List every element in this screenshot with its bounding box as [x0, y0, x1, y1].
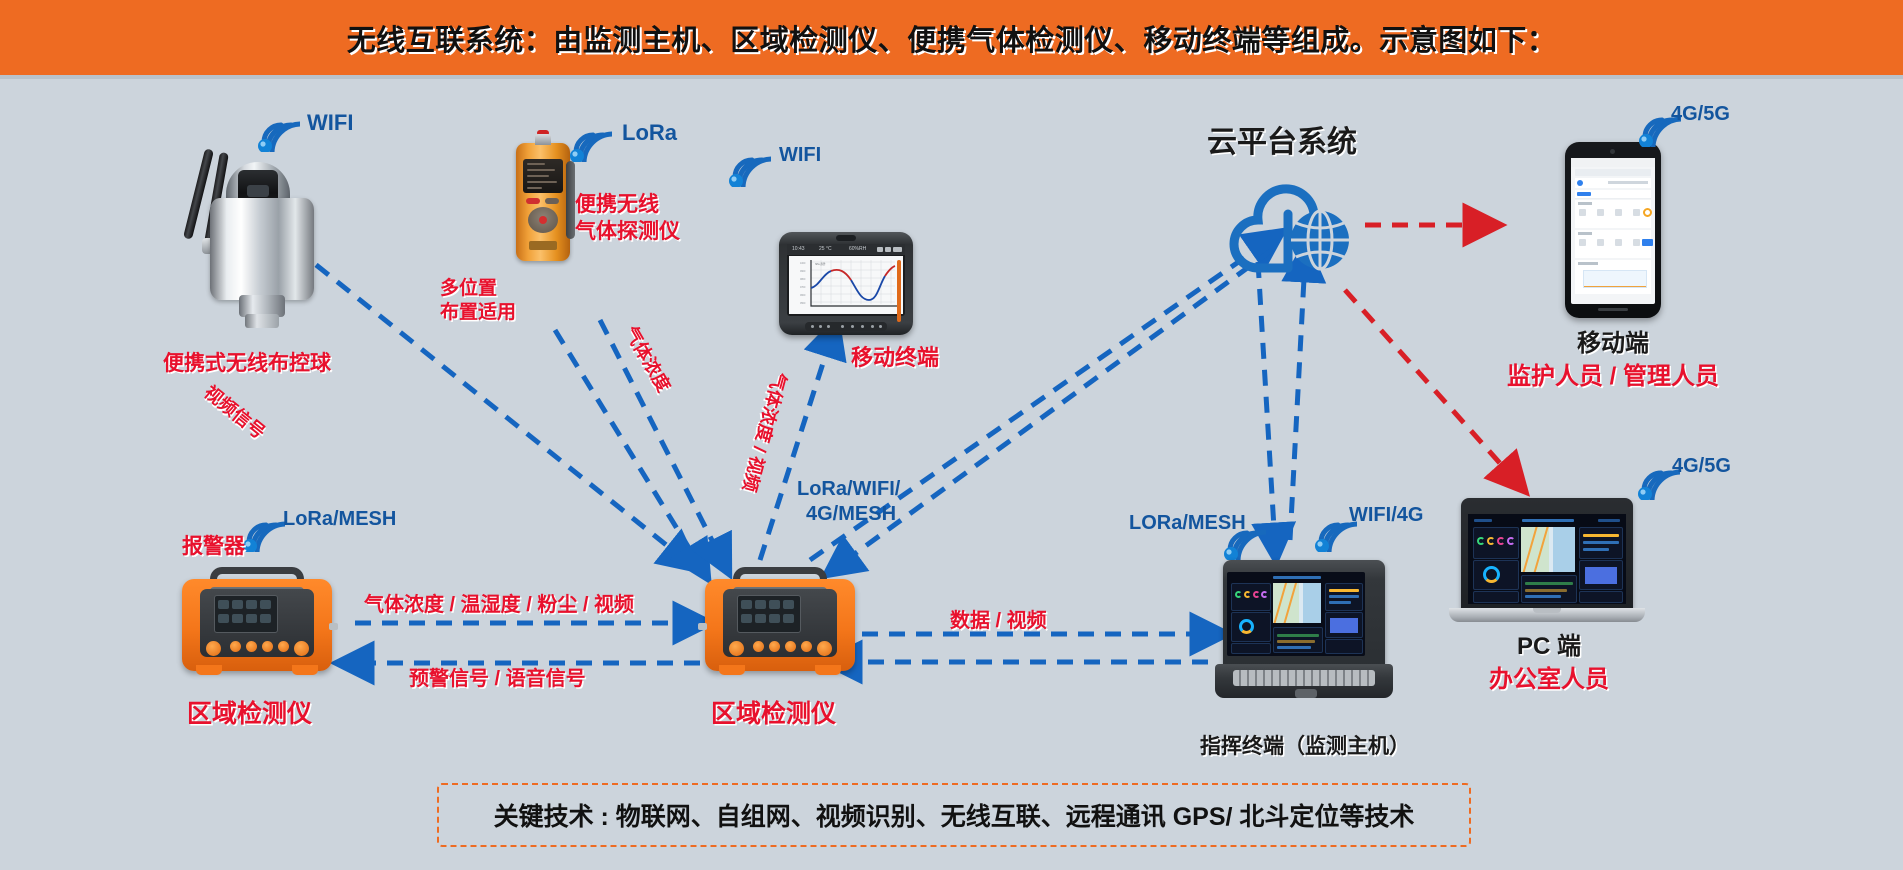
- tablet-status-temp: 25 °C: [819, 246, 832, 252]
- svg-text:hPa 趋势: hPa 趋势: [815, 262, 826, 266]
- cmd-status-row-a: [1329, 589, 1359, 592]
- wifi-icon-camera: [256, 112, 300, 152]
- link-cloud-to-command: [1258, 262, 1275, 545]
- detector-power-button[interactable]: [526, 198, 540, 204]
- svg-text:0700: 0700: [800, 286, 806, 289]
- pc-map-water: [1553, 527, 1575, 572]
- pc-client-signal-label: 4G/5G: [1672, 455, 1731, 478]
- detector-intake-grill: [529, 241, 557, 250]
- phone-stat-card-2: [1575, 230, 1651, 258]
- cmd-radial-dial: [1239, 619, 1254, 634]
- svg-text:0500: 0500: [800, 302, 806, 305]
- tablet-battery-icon: [893, 247, 902, 252]
- phone-card-2-kpi-2: [1597, 239, 1604, 246]
- handheld-gas-detector-device: [516, 143, 570, 261]
- area-detector-center-foot-b: [815, 665, 841, 675]
- phone-status-bar: [1571, 158, 1655, 167]
- phone-logo-icon: [1577, 180, 1583, 186]
- mobile-client-role: 监护人员 / 管理人员: [1493, 363, 1733, 391]
- tablet-accent-strip: [897, 260, 901, 322]
- area-detector-left-device: [182, 565, 332, 677]
- pc-radial-dial: [1483, 566, 1500, 583]
- tablet-bezel: 10:43 25 °C 60%RH: [787, 244, 905, 316]
- command-terminal-touchpad[interactable]: [1295, 689, 1317, 698]
- phone-card-1-kpi-4: [1633, 209, 1640, 216]
- link-label-area-to-area-down: 预警信号 / 语音信号: [409, 668, 586, 691]
- alarm-device-label: 报警器: [182, 535, 245, 559]
- detector-dpad[interactable]: [528, 207, 558, 233]
- cmd-screen-aux-panel: [1231, 643, 1271, 654]
- pc-status-row-a: [1583, 534, 1619, 537]
- gas-detector-note-line2: 布置适用: [440, 302, 516, 324]
- pc-client-role: 办公室人员: [1459, 666, 1639, 694]
- pc-gauge-2: [1487, 537, 1495, 545]
- lora-icon-gas-detector: [568, 122, 612, 162]
- tablet-status-time: 10:43: [792, 246, 805, 252]
- area-detector-left-port: [329, 623, 338, 630]
- pc-screen-gauges-panel: [1473, 527, 1519, 559]
- area-detector-center-foot-a: [719, 665, 745, 675]
- svg-text:0900: 0900: [800, 270, 806, 273]
- phone-card-2-kpi-3: [1615, 239, 1622, 246]
- phone-card-2-kpi-1: [1579, 239, 1586, 246]
- key-technologies-box: 关键技术 : 物联网、自组网、视频识别、无线互联、远程通讯 GPS/ 北斗定位等…: [437, 783, 1471, 847]
- cmd-log-line-b: [1277, 640, 1315, 643]
- cmd-log-line-a: [1277, 634, 1319, 637]
- command-terminal-keyboard[interactable]: [1233, 670, 1375, 686]
- area-detector-center-port: [698, 623, 707, 630]
- cloud-platform-title: 云平台系统: [1207, 126, 1357, 161]
- cmd-log-line-c: [1277, 646, 1311, 649]
- pc-screen-video-panel: [1579, 560, 1623, 590]
- pc-client-label: PC 端: [1479, 633, 1619, 661]
- tablet-status-icon-1: [877, 247, 883, 252]
- tablet-signal-label: WIFI: [779, 144, 821, 167]
- cmd-video-thumb: [1330, 618, 1358, 633]
- pc-status-row-c: [1583, 548, 1609, 551]
- link-command-to-cloud: [1290, 260, 1305, 540]
- area-detector-center-device: [705, 565, 855, 677]
- tablet-status-bar: 10:43 25 °C 60%RH: [787, 244, 905, 255]
- phone-toolbar: [1575, 178, 1651, 188]
- tablet-button-row[interactable]: [805, 322, 887, 331]
- alarm-signal-label: LoRa/MESH: [283, 508, 396, 531]
- header-divider: [0, 75, 1903, 79]
- link-label-gas-concentration: 气体浓度: [620, 323, 674, 396]
- pc-screen-corner-left: [1474, 519, 1492, 522]
- pc-laptop-screen: [1468, 514, 1626, 604]
- camera-body: [210, 198, 314, 300]
- rugged-tablet-device: 10:43 25 °C 60%RH: [779, 232, 913, 335]
- detector-sensor-cap: [535, 134, 551, 145]
- link-label-lora-wifi-4g-l1: LoRa/WIFI/: [797, 478, 900, 501]
- tablet-status-humidity: 60%RH: [849, 246, 866, 252]
- area-detector-center-label: 区域检测仪: [711, 700, 836, 729]
- cmd-map-water: [1303, 583, 1321, 623]
- tablet-chart-screen: 100009000800 070006000500 hPa 趋势: [789, 256, 903, 314]
- gas-detector-label-line1: 便携无线: [575, 193, 659, 217]
- pc-log-line-c: [1525, 595, 1561, 598]
- phone-active-tab[interactable]: [1577, 192, 1591, 196]
- cmd-status-row-c: [1329, 601, 1351, 604]
- phone-front-camera: [1610, 149, 1615, 154]
- link-gasdet-to-area-b: [600, 320, 722, 560]
- pc-laptop-lid: [1461, 498, 1633, 610]
- cmd-screen-status-panel: [1325, 583, 1363, 611]
- link-cloud-to-pc: [1345, 290, 1515, 480]
- svg-text:0600: 0600: [800, 294, 806, 297]
- phone-card-1-kpi-3: [1615, 209, 1622, 216]
- detector-belt-clip: [566, 161, 575, 239]
- phone-card-2-title: [1578, 232, 1592, 235]
- phone-toolbar-icons: [1608, 181, 1648, 184]
- mobile-client-label: 移动端: [1543, 330, 1683, 358]
- phone-screen: [1571, 158, 1655, 304]
- detector-screen: [523, 159, 563, 193]
- camera-base: [245, 314, 279, 328]
- wifi-icon-tablet: [727, 147, 771, 187]
- cmd-screen-map: [1273, 583, 1321, 623]
- ptz-camera-device: [178, 140, 338, 290]
- tablet-status-icon-2: [885, 247, 891, 252]
- link-label-data-video: 数据 / 视频: [950, 610, 1047, 633]
- phone-card-1-kpi-1: [1579, 209, 1586, 216]
- pc-gauge-1: [1477, 537, 1485, 545]
- command-terminal-device: [1215, 560, 1393, 708]
- cmd-screen-radial-panel: [1231, 612, 1271, 642]
- cmd-screen-log-panel: [1273, 627, 1323, 653]
- camera-signal-label: WIFI: [307, 110, 353, 135]
- camera-label: 便携式无线布控球: [163, 352, 331, 376]
- link-label-video-signal: 视频信号: [200, 382, 269, 443]
- cmd-screen-video-panel: [1325, 612, 1363, 638]
- pc-log-line-a: [1525, 582, 1573, 585]
- pc-screen-aux-panel-2: [1579, 591, 1623, 603]
- pc-screen-status-panel: [1579, 527, 1623, 559]
- area-detector-left-foot-b: [292, 665, 318, 675]
- phone-app-header: [1575, 169, 1651, 176]
- phone-card-1-title: [1578, 202, 1592, 205]
- phone-card-1-gauge: [1643, 208, 1652, 217]
- link-gasdet-to-area-a: [555, 330, 700, 566]
- diagram-canvas: 无线互联系统：由监测主机、区域检测仪、便携气体检测仪、移动终端等组成。示意图如下…: [0, 0, 1903, 870]
- pc-laptop-notch: [1533, 608, 1561, 613]
- cmd-gauge-2: [1244, 591, 1251, 598]
- cmd-gauge-1: [1235, 591, 1242, 598]
- pc-screen-radial-panel: [1473, 560, 1519, 590]
- detector-mode-button[interactable]: [545, 198, 559, 204]
- area-detector-left-foot-a: [196, 665, 222, 675]
- cmd-status-row-b: [1329, 595, 1359, 598]
- mobile-terminal-label: 移动终端: [851, 345, 939, 370]
- pc-laptop-device: [1449, 498, 1645, 634]
- gas-detector-note-line1: 多位置: [440, 278, 497, 300]
- mobile-client-signal-label: 4G/5G: [1671, 103, 1730, 126]
- phone-chart-title: [1578, 262, 1598, 265]
- camera-lens-glass: [247, 185, 269, 197]
- phone-card-2-badge: [1642, 239, 1653, 246]
- pc-log-line-b: [1525, 589, 1567, 592]
- cmd-gauge-3: [1253, 591, 1260, 598]
- tablet-camera: [836, 235, 856, 241]
- command-signal-right-label: WIFI/4G: [1349, 504, 1423, 527]
- mobile-phone-device: [1565, 142, 1661, 318]
- phone-tab-row[interactable]: [1575, 190, 1651, 199]
- command-terminal-screen: [1227, 572, 1365, 656]
- pc-video-thumb: [1585, 567, 1617, 584]
- pc-screen-map: [1521, 527, 1575, 572]
- phone-chart-card: [1575, 260, 1651, 294]
- pc-screen-aux-panel: [1473, 591, 1519, 603]
- phone-chart-series: [1584, 286, 1646, 287]
- gas-detector-signal-label: LoRa: [622, 120, 677, 145]
- pc-gauge-3: [1497, 537, 1505, 545]
- pc-screen-title-bar: [1522, 519, 1574, 522]
- globe-icon: [1291, 211, 1349, 269]
- pc-screen-corner-right: [1598, 519, 1620, 522]
- svg-text:1000: 1000: [800, 262, 806, 265]
- gas-detector-label-line2: 气体探测仪: [575, 220, 680, 244]
- area-detector-left-label: 区域检测仪: [187, 700, 312, 729]
- cmd-gauge-4: [1261, 591, 1268, 598]
- cmd-screen-aux-panel-2: [1325, 639, 1363, 654]
- phone-home-indicator: [1598, 308, 1628, 311]
- cmd-screen-gauges-panel: [1231, 583, 1271, 611]
- command-terminal-label: 指挥终端（监测主机）: [1200, 735, 1410, 759]
- link-label-lora-wifi-4g-l2: 4G/MESH: [806, 503, 896, 526]
- key-technologies-text: 关键技术 : 物联网、自组网、视频识别、无线互联、远程通讯 GPS/ 北斗定位等…: [494, 797, 1415, 833]
- pc-gauge-4: [1507, 537, 1515, 545]
- phone-card-2-kpi-4: [1633, 239, 1640, 246]
- pc-status-row-b: [1583, 541, 1619, 544]
- svg-text:0800: 0800: [800, 278, 806, 281]
- area-detector-center-screen: [737, 595, 801, 633]
- lora-mesh-icon-alarm: [241, 512, 285, 552]
- phone-stat-card-1: [1575, 200, 1651, 228]
- link-area-to-tablet: [760, 335, 832, 560]
- header-banner: 无线互联系统：由监测主机、区域检测仪、便携气体检测仪、移动终端等组成。示意图如下…: [0, 0, 1903, 75]
- cloud-platform-icon: [1222, 168, 1362, 278]
- page-title: 无线互联系统：由监测主机、区域检测仪、便携气体检测仪、移动终端等组成。示意图如下…: [347, 17, 1557, 59]
- link-label-area-to-area-up: 气体浓度 / 温湿度 / 粉尘 / 视频: [364, 594, 634, 617]
- phone-card-1-kpi-2: [1597, 209, 1604, 216]
- pc-screen-log-panel: [1521, 575, 1577, 603]
- area-detector-left-buttons[interactable]: [204, 639, 310, 655]
- link-label-gas-concentration-video: 气体浓度 / 视频: [738, 370, 790, 494]
- area-detector-left-screen: [214, 595, 278, 633]
- command-signal-left-label: LORa/MESH: [1129, 512, 1246, 535]
- area-detector-center-buttons[interactable]: [727, 639, 833, 655]
- cmd-screen-title-bar: [1273, 576, 1321, 579]
